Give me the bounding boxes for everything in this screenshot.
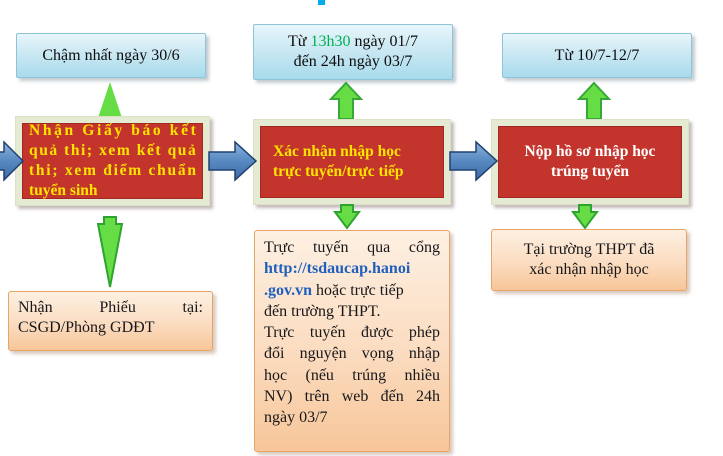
process-box-1-line-2: quả thi; xem kết quả (29, 141, 196, 161)
arrow-down-2-icon (333, 205, 361, 229)
process-box-2[interactable]: Xác nhận nhập học trực tuyến/trực tiếp (253, 119, 451, 205)
note-box-2-line-1: Trựctuyếnquacổng (264, 237, 440, 258)
date-box-1[interactable]: Chậm nhất ngày 30/6 (16, 33, 206, 78)
arrow-right-1-icon (209, 139, 257, 183)
note-box-2-line-2: http://tsdaucap.hanoi (264, 258, 440, 279)
note-box-2-line-6: đổinguyệnvọngnhập (264, 343, 440, 364)
process-box-1-body: Nhận Giấy báo kết quả thi; xem kết quả t… (22, 123, 203, 199)
date-box-2-line-2: đến 24h ngày 03/7 (294, 52, 413, 72)
arrow-up-2-icon (330, 82, 362, 120)
note-box-2[interactable]: Trựctuyếnquacổng http://tsdaucap.hanoi .… (254, 230, 450, 452)
process-box-3-line-1: Nộp hồ sơ nhập học (525, 142, 656, 162)
note-box-3-line-2: xác nhận nhập học (529, 260, 649, 280)
note-box-2-line-3: .gov.vn hoặc trực tiếp (264, 280, 440, 301)
process-box-2-line-1: Xác nhận nhập học (273, 142, 401, 162)
arrow-down-1-icon (96, 215, 124, 289)
process-box-3-body: Nộp hồ sơ nhập học trúng tuyển (498, 126, 682, 198)
note-box-1-line-1: NhậnPhiếutại: (18, 298, 203, 318)
note-box-2-line-3-rest: hoặc trực tiếp (312, 282, 404, 299)
arrow-down-3-icon (571, 205, 599, 229)
process-box-3[interactable]: Nộp hồ sơ nhập học trúng tuyển (491, 119, 689, 205)
note-box-1-line-2: CSGD/Phòng GDĐT (18, 318, 203, 338)
arrow-right-2-icon (450, 139, 498, 183)
date-box-2-highlight: 13h30 (310, 33, 350, 50)
date-box-1-label: Chậm nhất ngày 30/6 (42, 46, 179, 66)
note-box-2-line-4: đến trường THPT. (264, 301, 440, 322)
process-box-1-line-3: thi; xem điểm chuẩn (29, 161, 196, 181)
process-box-1-line-1: Nhận Giấy báo kết (29, 121, 196, 141)
process-box-2-body: Xác nhận nhập học trực tuyến/trực tiếp (260, 126, 444, 198)
date-box-3-label: Từ 10/7-12/7 (555, 46, 640, 66)
date-box-2-suffix: ngày 01/7 (350, 33, 418, 50)
process-box-2-line-2: trực tuyến/trực tiếp (273, 162, 404, 182)
clipped-blue-title-fragment (318, 0, 325, 5)
arrow-up-3-icon (578, 82, 610, 120)
arrow-right-0-icon (0, 139, 24, 183)
note-box-2-line-9: ngày 03/7 (264, 407, 440, 428)
date-box-2-line-1: Từ 13h30 ngày 01/7 (288, 32, 418, 52)
note-box-2-line-7: học(nếutrúngnhiều (264, 365, 440, 386)
process-box-3-line-2: trúng tuyển (551, 162, 629, 182)
note-box-2-line-5: Trựctuyếnđượcphép (264, 322, 440, 343)
process-box-1-line-4-text: tuyển sinh (29, 181, 98, 201)
note-box-1[interactable]: NhậnPhiếutại: CSGD/Phòng GDĐT (8, 291, 213, 351)
arrow-up-1-icon (95, 80, 125, 120)
date-box-2[interactable]: Từ 13h30 ngày 01/7 đến 24h ngày 03/7 (253, 24, 453, 80)
note-box-3[interactable]: Tại trường THPT đã xác nhận nhập học (491, 229, 687, 291)
process-box-1-line-4: tuyển sinh (29, 181, 196, 201)
note-box-2-url-part-2[interactable]: .gov.vn (264, 282, 312, 299)
note-box-3-line-1: Tại trường THPT đã (524, 240, 655, 260)
note-box-2-line-8: NV)trênwebđến24h (264, 386, 440, 407)
note-box-2-url-part-1[interactable]: http://tsdaucap.hanoi (264, 260, 410, 277)
date-box-3[interactable]: Từ 10/7-12/7 (502, 33, 692, 78)
date-box-2-prefix: Từ (288, 33, 310, 50)
process-box-1[interactable]: Nhận Giấy báo kết quả thi; xem kết quả t… (15, 116, 210, 206)
